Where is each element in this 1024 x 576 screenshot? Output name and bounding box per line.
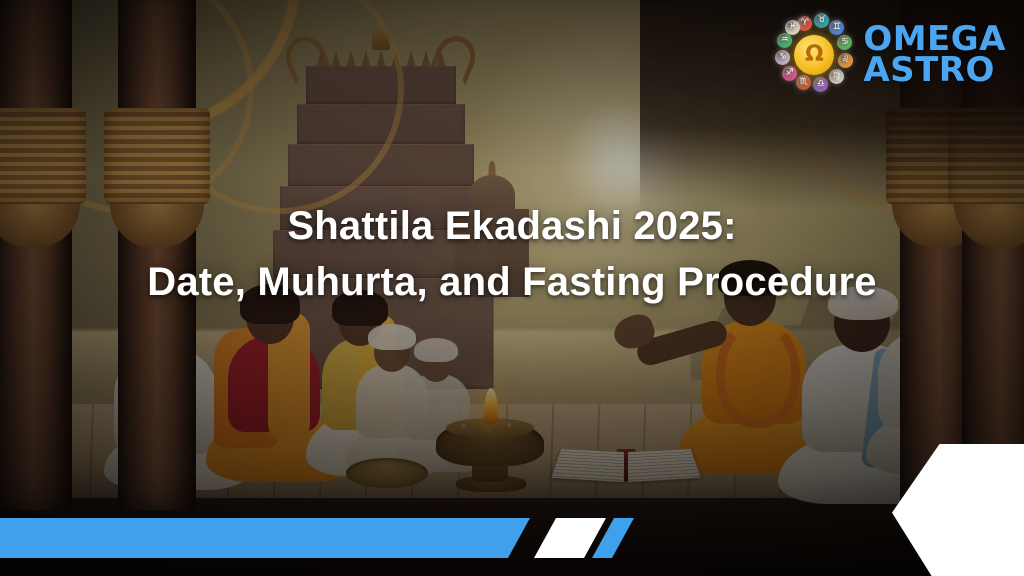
blue-bar [0, 518, 530, 558]
white-slash [534, 518, 606, 558]
title-line-1: Shattila Ekadashi 2025: [0, 198, 1024, 254]
title-line-2: Date, Muhurta, and Fasting Procedure [0, 254, 1024, 310]
brand-logo[interactable]: ♈♉♊♋♌♍♎♏♐♑♒♓ Ω OMEGA ASTRO [771, 12, 1006, 98]
brand-name-line2: ASTRO [863, 55, 1006, 86]
sun-omega-icon: ♈♉♊♋♌♍♎♏♐♑♒♓ Ω [771, 12, 857, 98]
omega-symbol: Ω [805, 44, 824, 66]
sun-core-icon: Ω [794, 35, 834, 75]
brand-name: OMEGA ASTRO [863, 24, 1006, 87]
banner-root: Shattila Ekadashi 2025: Date, Muhurta, a… [0, 0, 1024, 576]
page-title: Shattila Ekadashi 2025: Date, Muhurta, a… [0, 198, 1024, 310]
bottom-accent-band [0, 518, 1024, 558]
